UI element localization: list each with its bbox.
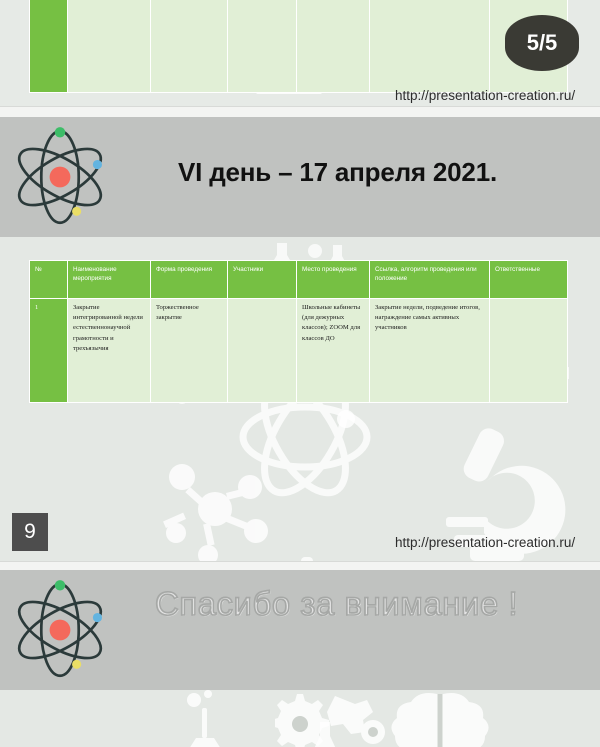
- cell-participants: [228, 299, 297, 403]
- cell-place: Школьные кабинеты (для дежурных классов)…: [297, 299, 370, 403]
- slide-divider-2: [0, 561, 600, 562]
- atom-icon: [8, 578, 112, 682]
- slide-10-title: Спасибо за внимание !: [155, 585, 518, 623]
- slide-5-table: викторина я игра 9 классы кабинеты (для …: [29, 0, 568, 93]
- th-form: Форма проведения: [151, 261, 228, 299]
- slide-divider-1: [0, 106, 600, 107]
- th-num: №: [30, 261, 68, 299]
- cell-num: 1: [30, 299, 68, 403]
- page-badge-5-of-5: 5/5: [505, 15, 579, 71]
- cell-form: Торжественное закрытие: [151, 299, 228, 403]
- cell-form: я игра: [151, 0, 228, 93]
- slide-9-table: № Наименование мероприятия Форма проведе…: [29, 260, 568, 403]
- slide-10: Спасибо за внимание !: [0, 570, 600, 747]
- cell-link: Закрытие недели, подведение итогов, нагр…: [370, 299, 490, 403]
- th-link: Ссылка, алгоритм проведения или положени…: [370, 261, 490, 299]
- footer-url-slide-9[interactable]: http://presentation-creation.ru/: [395, 535, 575, 550]
- th-event-name: Наименование мероприятия: [68, 261, 151, 299]
- cell-num: [30, 0, 68, 93]
- atom-icon: [8, 125, 112, 229]
- slide-gap-1: [0, 106, 600, 117]
- cell-event-name: викторина: [68, 0, 151, 93]
- cell-responsible: [490, 299, 568, 403]
- cell-place: кабинеты (для дежурных классов): [297, 0, 370, 93]
- footer-url-slide-5[interactable]: http://presentation-creation.ru/: [395, 88, 575, 103]
- slide-9: VI день – 17 апреля 2021.: [0, 117, 600, 561]
- cell-event-name: Закрытие интегрированной недели естестве…: [68, 299, 151, 403]
- cell-participants: 9 классы: [228, 0, 297, 93]
- table-row: викторина я игра 9 классы кабинеты (для …: [30, 0, 568, 93]
- page-badge-9: 9: [12, 513, 48, 551]
- slide-9-title: VI день – 17 апреля 2021.: [178, 157, 497, 188]
- th-responsible: Ответственные: [490, 261, 568, 299]
- th-participants: Участники: [228, 261, 297, 299]
- th-place: Место проведения: [297, 261, 370, 299]
- presentation-scroll-view: викторина я игра 9 классы кабинеты (для …: [0, 0, 600, 747]
- slide-gap-2: [0, 561, 600, 570]
- cell-link: кругозор, активизировать опыт учащихся, …: [370, 0, 490, 93]
- table-header-row: № Наименование мероприятия Форма проведе…: [30, 261, 568, 299]
- slide-5: викторина я игра 9 классы кабинеты (для …: [0, 0, 600, 106]
- table-row: 1 Закрытие интегрированной недели естест…: [30, 299, 568, 403]
